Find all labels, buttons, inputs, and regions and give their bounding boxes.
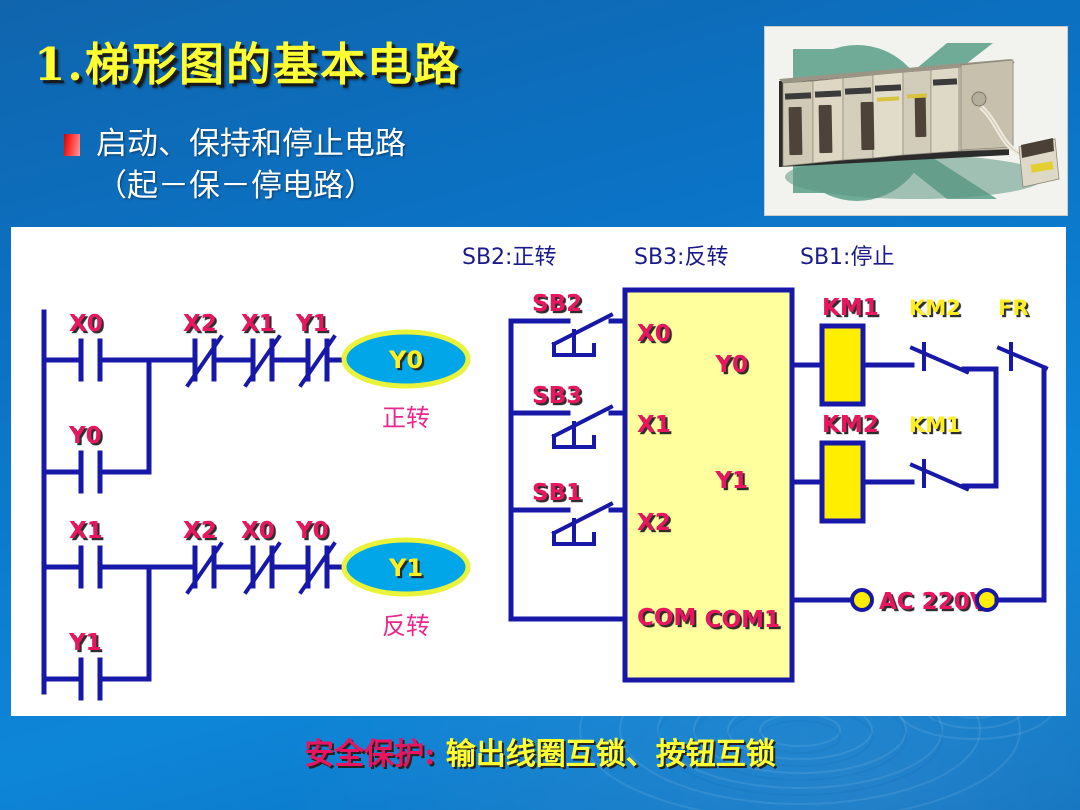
km2-contact-arm — [912, 348, 967, 372]
plc-terminal-x2: X2 — [637, 510, 671, 536]
pushbutton-label-sb3: SB3 — [532, 383, 582, 409]
contactor-coil-km1 — [822, 326, 863, 404]
bullet-line-1: 启动、保持和停止电路 — [96, 126, 406, 162]
plc-terminal-y0: Y0 — [714, 352, 748, 378]
pushbutton-label-sb2: SB2 — [532, 291, 582, 317]
coil-caption-forward: 正转 — [382, 404, 430, 432]
pushbutton-label-sb1: SB1 — [532, 480, 582, 506]
contact-label-x1-start: X1 — [69, 518, 103, 544]
circuit-diagram: .wire { stroke:#1818a8; stroke-width:5; … — [11, 227, 1066, 716]
note-sb2: SB2:正转 — [462, 245, 556, 270]
bullet-block: 启动、保持和停止电路 （起－保－停电路） — [64, 124, 406, 208]
plc-terminal-x0: X0 — [637, 321, 671, 347]
plc-terminal-y1: Y1 — [714, 468, 748, 494]
supply-terminal-left — [852, 590, 872, 610]
contact-label-x2-2: X2 — [183, 518, 217, 544]
km1-contact-arm — [912, 465, 967, 489]
pushbutton-sb2[interactable]: SB2 — [511, 291, 625, 355]
page-title: 1.梯形图的基本电路 — [34, 28, 461, 93]
plc-terminal-com: COM — [637, 605, 696, 631]
plc-product-photo — [764, 26, 1068, 216]
caption-label: 安全保护: — [304, 737, 435, 772]
pushbutton-sb1[interactable]: SB1 — [511, 480, 625, 544]
pushbutton-sb3[interactable]: SB3 — [511, 383, 625, 447]
slide-root: 1.梯形图的基本电路 启动、保持和停止电路 （起－保－停电路） — [0, 0, 1080, 810]
ladder-diagram: X0 Y0 X2 — [44, 311, 468, 698]
note-sb1: SB1:停止 — [800, 245, 894, 270]
interlock-label-km2: KM2 — [909, 296, 961, 320]
contactor-label-km2: KM2 — [822, 412, 879, 438]
rung-1: X0 Y0 X2 — [44, 311, 468, 491]
contact-label-y0-2: Y0 — [295, 518, 329, 544]
interlock-contact-km2: KM2 — [909, 296, 996, 372]
note-sb3: SB3:反转 — [634, 245, 728, 270]
interlock-contact-km1: KM1 — [909, 413, 996, 489]
footer-caption: 安全保护: 输出线圈互锁、按钮互锁 — [0, 729, 1080, 773]
supply-terminal-right — [977, 590, 997, 610]
bullet-text-wrapper: 启动、保持和停止电路 （起－保－停电路） — [96, 124, 406, 208]
supply-label: AC 220V — [879, 589, 988, 615]
contact-label-x0-2: X0 — [241, 518, 275, 544]
diagram-panel: .wire { stroke:#1818a8; stroke-width:5; … — [11, 227, 1066, 716]
interlock-label-km1: KM1 — [909, 413, 961, 437]
contact-label-y1: Y1 — [295, 311, 329, 337]
interlock-contact-fr: FR — [998, 296, 1046, 369]
caption-text: 输出线圈互锁、按钮互锁 — [446, 737, 776, 772]
rung-2: X1 Y1 X2 X0 — [44, 518, 468, 698]
coil-caption-reverse: 反转 — [382, 612, 430, 640]
coil-label-y0: Y0 — [388, 346, 423, 374]
contact-label-x2: X2 — [183, 311, 217, 337]
bullet-line-2: （起－保－停电路） — [96, 166, 406, 208]
coil-label-y1: Y1 — [388, 554, 423, 582]
plc-terminal-com1: COM1 — [705, 607, 780, 633]
wiring-diagram: SB2:正转 SB3:反转 SB1:停止 X0 X1 X2 COM Y0 Y1 … — [462, 245, 1046, 680]
plc-terminal-x1: X1 — [637, 412, 671, 438]
contactor-coil-km2 — [822, 443, 863, 521]
bullet-square-icon — [64, 134, 80, 156]
fr-contact-arm — [999, 348, 1046, 368]
contactor-label-km1: KM1 — [822, 295, 879, 321]
contact-label-x0: X0 — [69, 311, 103, 337]
interlock-label-fr: FR — [998, 296, 1029, 320]
contact-label-y0-latch: Y0 — [68, 423, 102, 449]
contact-label-y1-latch: Y1 — [68, 630, 102, 656]
contact-label-x1: X1 — [241, 311, 275, 337]
